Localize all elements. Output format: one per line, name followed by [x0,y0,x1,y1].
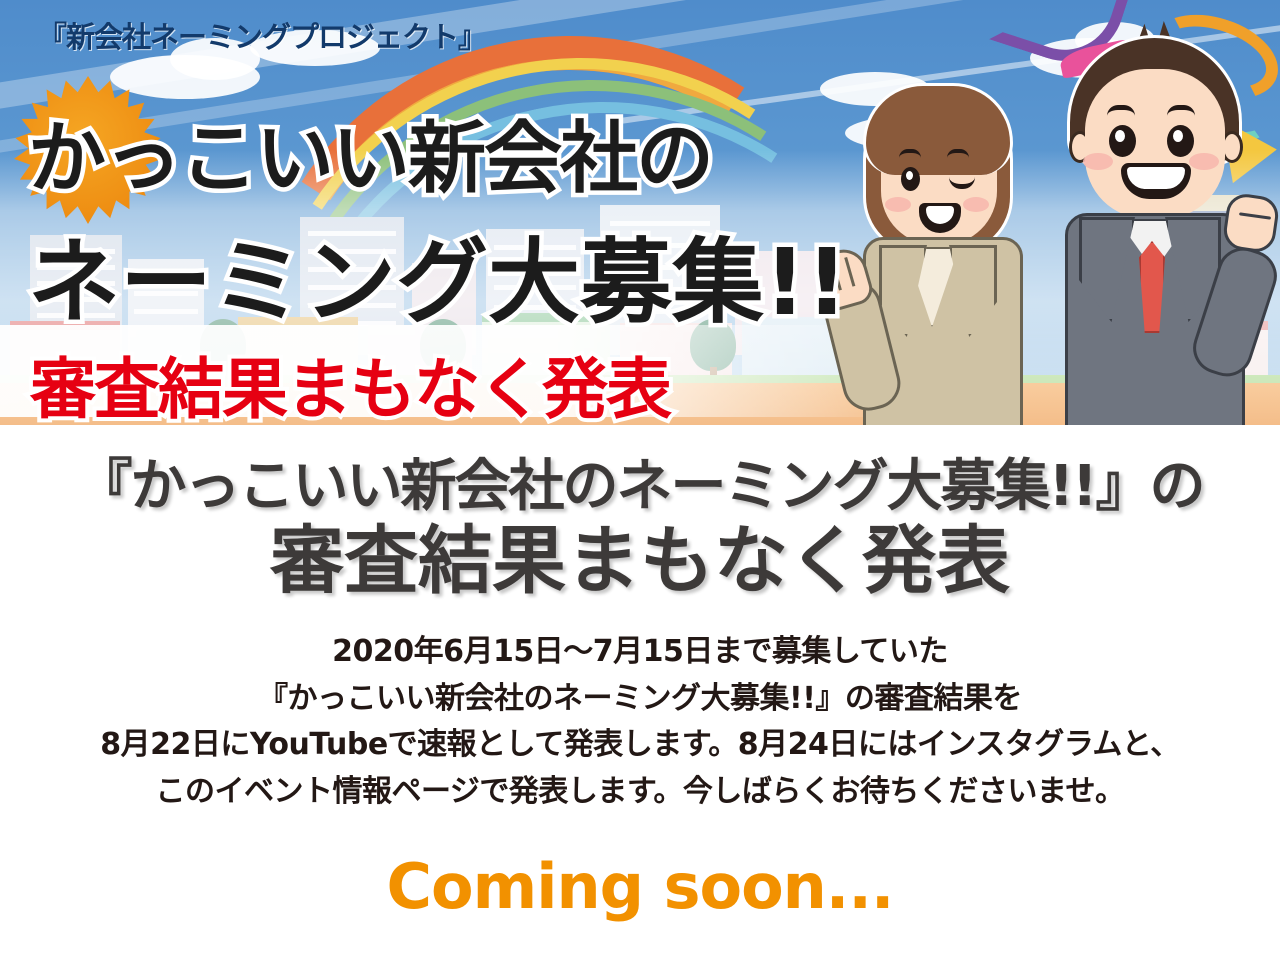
woman-eyebrow [899,149,921,158]
woman-eyebrow [947,149,969,158]
woman-cheek-blush [963,197,989,212]
body-line: このイベント情報ページで発表します。今しばらくお待ちくださいませ。 [0,769,1280,816]
businesswoman-illustration [845,85,1070,425]
body-line: 『かっこいい新会社のネーミング大募集!!』の審査結果を [0,676,1280,723]
main-heading-line1: 『かっこいい新会社のネーミング大募集!!』の [0,425,1280,519]
woman-eye [901,167,920,191]
man-eyebrow [1107,105,1135,116]
man-cheek-blush [1083,153,1113,170]
banner-red-band-text: 審査結果まもなく発表 [30,336,670,425]
main-heading-line2: 審査結果まもなく発表 [0,521,1280,602]
body-line: 8月22日にYouTubeで速報として発表します。8月24日にはインスタグラムと… [0,722,1280,769]
announcement-body: 2020年6月15日〜7月15日まで募集していた 『かっこいい新会社のネーミング… [0,629,1280,816]
man-eye [1109,125,1136,157]
man-raised-fist [1221,192,1280,255]
banner-headline-line1: かっこいい新会社の [28,96,712,208]
woman-cheek-blush [885,197,911,212]
man-eye [1167,125,1194,157]
project-tag: 『新会社ネーミングプロジェクト』 [38,14,486,56]
man-eyebrow [1167,105,1195,116]
man-cheek-blush [1189,153,1219,170]
page-root: 『新会社ネーミングプロジェクト』 かっこいい新会社の ネーミング大募集!! 審査… [0,0,1280,974]
main-content: 『かっこいい新会社のネーミング大募集!!』の 審査結果まもなく発表 2020年6… [0,425,1280,923]
coming-soon-text: Coming soon... [0,850,1280,923]
businessman-illustration [1055,35,1280,425]
body-line: 2020年6月15日〜7月15日まで募集していた [0,629,1280,676]
event-banner: 『新会社ネーミングプロジェクト』 かっこいい新会社の ネーミング大募集!! 審査… [0,0,1280,425]
woman-hair-front [863,83,1013,175]
banner-headline-line2: ネーミング大募集!! [28,208,848,341]
